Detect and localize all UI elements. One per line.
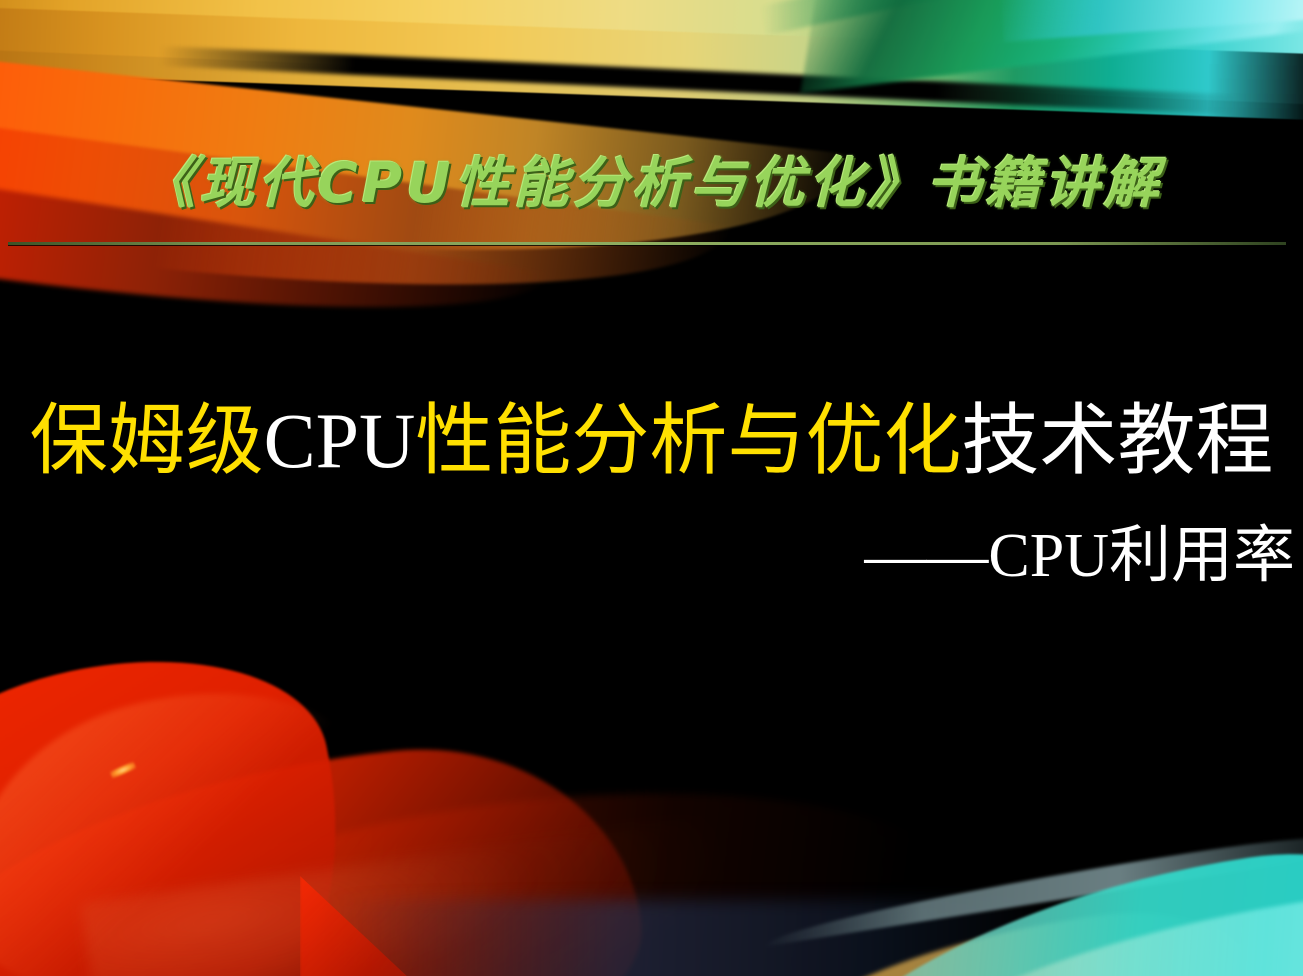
slide-content: 《现代CPU性能分析与优化》书籍讲解 保姆级CPU性能分析与优化技术教程 ——C… <box>0 0 1303 976</box>
title-segment-1: 保姆级 <box>30 397 264 484</box>
slide-subtitle: ——CPU利用率 <box>864 522 1295 590</box>
header-divider-rule <box>8 242 1286 245</box>
slide-header-title: 《现代CPU性能分析与优化》书籍讲解 <box>0 156 1303 211</box>
title-segment-3: 性能分析与优化 <box>415 397 961 484</box>
title-segment-4: 技术教程 <box>961 397 1273 484</box>
slide-main-title: 保姆级CPU性能分析与优化技术教程 <box>0 398 1303 484</box>
presentation-slide: 《现代CPU性能分析与优化》书籍讲解 保姆级CPU性能分析与优化技术教程 ——C… <box>0 0 1303 976</box>
title-segment-2: CPU <box>264 397 416 484</box>
